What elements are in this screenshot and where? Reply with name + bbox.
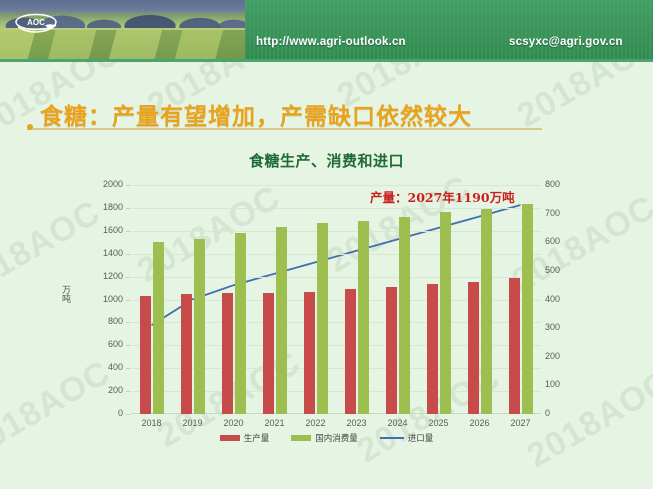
- y-axis-tick-mark: [126, 368, 130, 369]
- bar-production[interactable]: [304, 292, 315, 415]
- bar-consumption[interactable]: [440, 212, 451, 414]
- bar-consumption[interactable]: [235, 233, 246, 414]
- y-axis-tick-label: 200: [79, 385, 123, 395]
- y-axis-tick-mark: [126, 185, 130, 186]
- bar-production[interactable]: [263, 293, 274, 414]
- chart-gridline: [131, 185, 541, 186]
- y-axis-tick-label: 1000: [79, 294, 123, 304]
- y-axis-tick-label: 0: [79, 408, 123, 418]
- y-axis-tick-mark: [126, 208, 130, 209]
- title-bullet-dot: [27, 124, 33, 130]
- y-axis-tick-label: 600: [79, 339, 123, 349]
- x-axis-tick-label: 2019: [172, 418, 213, 428]
- header-green-band: [245, 0, 653, 62]
- slide-canvas: 2018AOC 2018AOC 2018AOC 2018AOC 2018AOC …: [0, 0, 653, 489]
- x-axis-tick-label: 2018: [131, 418, 172, 428]
- bar-production[interactable]: [386, 287, 397, 414]
- legend-item[interactable]: 进口量: [380, 432, 434, 444]
- bar-production[interactable]: [468, 282, 479, 414]
- x-axis-tick-label: 2025: [418, 418, 459, 428]
- chart-gridline: [131, 322, 541, 323]
- bar-consumption[interactable]: [153, 242, 164, 414]
- y-axis-tick-mark: [126, 345, 130, 346]
- chart-gridline: [131, 254, 541, 255]
- legend-label: 生产量: [244, 432, 270, 444]
- chart-gridline: [131, 368, 541, 369]
- legend-label: 进口量: [408, 432, 434, 444]
- y-axis-tick-mark: [126, 300, 130, 301]
- chart-annotation: 产量：2027年1190万吨: [370, 187, 515, 206]
- y-axis-tick-label: 1600: [79, 225, 123, 235]
- header-email[interactable]: scsyxc@agri.gov.cn: [509, 36, 623, 48]
- y-axis-tick-mark: [126, 322, 130, 323]
- y-axis-tick-label: 1800: [79, 202, 123, 212]
- bar-production[interactable]: [222, 293, 233, 414]
- x-axis-tick-label: 2023: [336, 418, 377, 428]
- y2-axis-tick-label: 200: [545, 351, 585, 361]
- y-axis-tick-mark: [126, 391, 130, 392]
- y-axis-tick-mark: [126, 277, 130, 278]
- chart-gridline: [131, 277, 541, 278]
- chart-legend: 生产量 国内消费量 进口量: [0, 432, 653, 444]
- y2-axis-tick-label: 300: [545, 322, 585, 332]
- slide-header: AOC http://www.agri-outlook.cn scsyxc@ag…: [0, 0, 653, 62]
- y-axis-tick-mark: [126, 231, 130, 232]
- chart-gridline: [131, 231, 541, 232]
- y-axis-tick-label: 2000: [79, 179, 123, 189]
- chart-title: 食糖生产、消费和进口: [0, 150, 653, 171]
- bar-consumption[interactable]: [317, 223, 328, 414]
- bar-consumption[interactable]: [358, 221, 369, 415]
- y-axis-tick-mark: [126, 254, 130, 255]
- bar-production[interactable]: [509, 278, 520, 414]
- chart-plot-area: 万吨 0200400600800100012001400160018002000…: [131, 185, 541, 414]
- chart-gridline: [131, 345, 541, 346]
- bar-consumption[interactable]: [194, 239, 205, 414]
- bar-consumption[interactable]: [481, 209, 492, 414]
- import-line-path: [152, 205, 521, 325]
- y-axis-tick-label: 1200: [79, 271, 123, 281]
- legend-swatch-production-icon: [220, 435, 240, 441]
- x-axis-tick-label: 2022: [295, 418, 336, 428]
- chart-gridline: [131, 208, 541, 209]
- svg-text:AOC: AOC: [27, 18, 45, 27]
- header-divider: [0, 59, 653, 62]
- bar-production[interactable]: [427, 284, 438, 414]
- y2-axis-tick-label: 700: [545, 208, 585, 218]
- bar-consumption[interactable]: [399, 217, 410, 414]
- x-axis-tick-label: 2021: [254, 418, 295, 428]
- bar-production[interactable]: [140, 296, 151, 414]
- x-axis-tick-label: 2027: [500, 418, 541, 428]
- bar-production[interactable]: [181, 294, 192, 414]
- y-axis-tick-label: 400: [79, 362, 123, 372]
- y-axis-tick-mark: [126, 414, 130, 415]
- chart-gridline: [131, 300, 541, 301]
- y2-axis-tick-label: 800: [545, 179, 585, 189]
- chart-gridline: [131, 391, 541, 392]
- x-axis-tick-label: 2024: [377, 418, 418, 428]
- x-axis-tick-label: 2026: [459, 418, 500, 428]
- page-title: 食糖：产量有望增加，产需缺口依然较大: [40, 97, 472, 131]
- y-axis-tick-label: 1400: [79, 248, 123, 258]
- y-axis-tick-label: 800: [79, 316, 123, 326]
- y-axis-label: 万吨: [59, 285, 72, 303]
- legend-swatch-consumption-icon: [291, 435, 311, 441]
- legend-item[interactable]: 国内消费量: [291, 432, 358, 444]
- y2-axis-tick-label: 0: [545, 408, 585, 418]
- legend-swatch-import-icon: [380, 437, 404, 439]
- y2-axis-tick-label: 100: [545, 379, 585, 389]
- aoc-logo-icon: AOC: [14, 12, 58, 36]
- y2-axis-tick-label: 500: [545, 265, 585, 275]
- bar-consumption[interactable]: [522, 204, 533, 414]
- bar-production[interactable]: [345, 289, 356, 414]
- chart-container: 食糖生产、消费和进口 产量：2027年1190万吨 万吨 02004006008…: [0, 140, 653, 470]
- legend-item[interactable]: 生产量: [220, 432, 270, 444]
- x-axis-tick-label: 2020: [213, 418, 254, 428]
- y2-axis-tick-label: 600: [545, 236, 585, 246]
- bar-consumption[interactable]: [276, 227, 287, 414]
- title-underline: [27, 128, 542, 130]
- y2-axis-tick-label: 400: [545, 294, 585, 304]
- legend-label: 国内消费量: [315, 432, 358, 444]
- header-website-url[interactable]: http://www.agri-outlook.cn: [256, 36, 406, 48]
